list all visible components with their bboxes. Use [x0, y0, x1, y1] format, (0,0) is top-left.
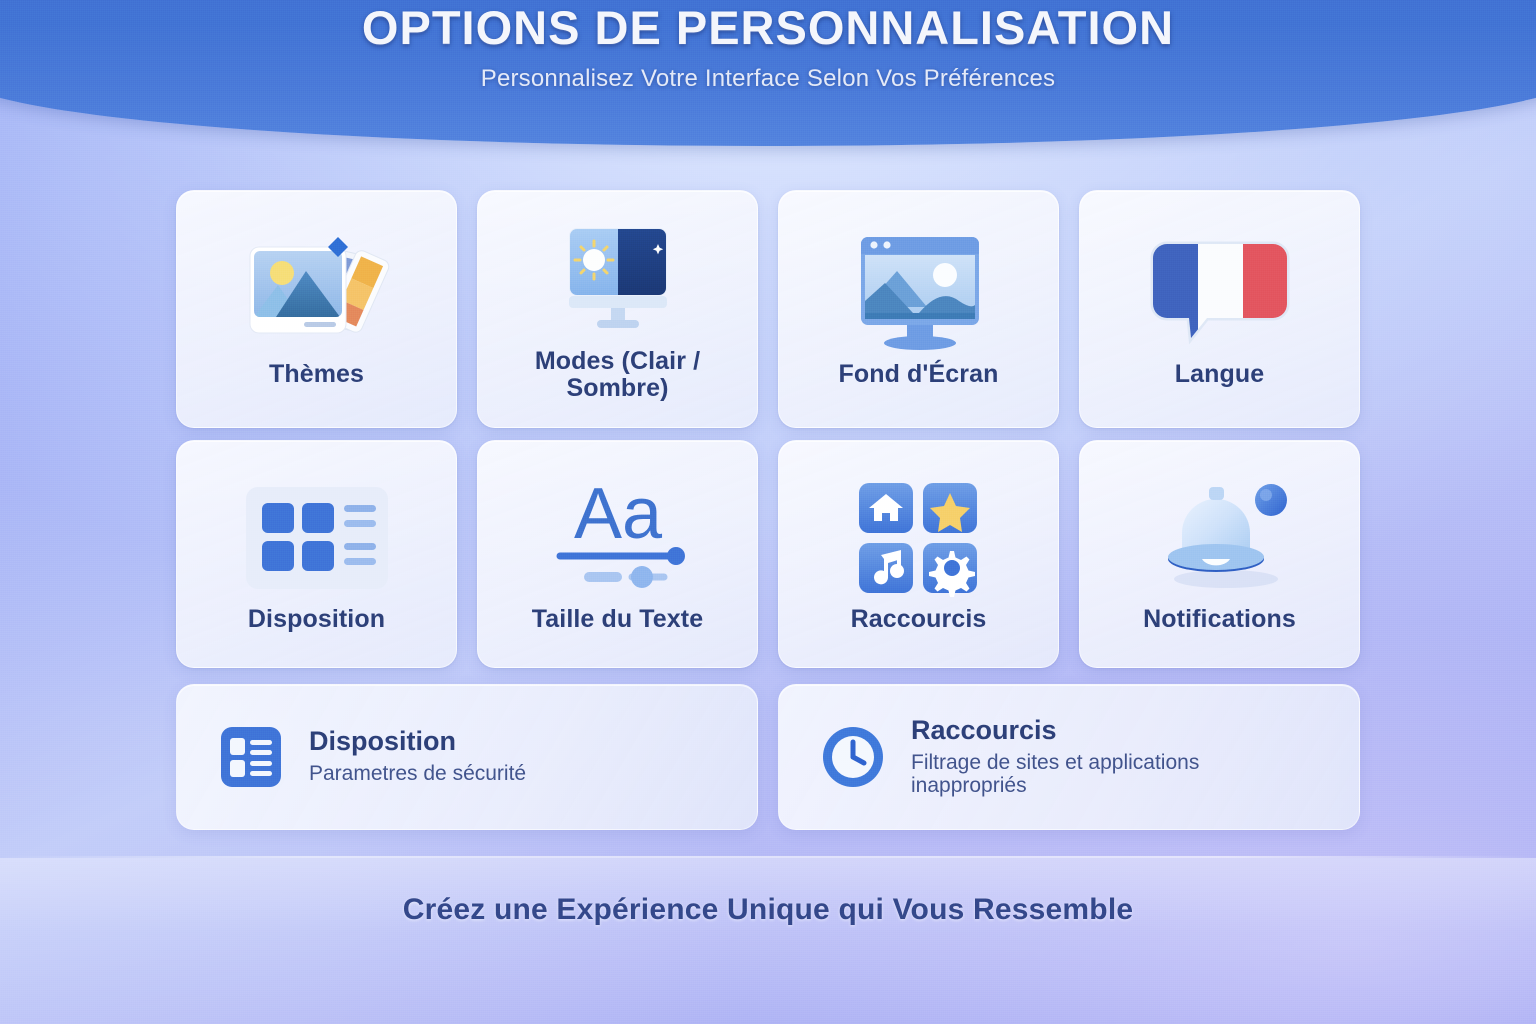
infographic-canvas: OPTIONS DE PERSONNALISATION Personnalise… — [0, 0, 1536, 1024]
option-card-wallpaper[interactable]: Fond d'Écran — [778, 190, 1059, 428]
option-label: Fond d'Écran — [831, 361, 1007, 389]
shortcut-tiles-icon — [849, 474, 989, 602]
option-card-themes[interactable]: Thèmes — [176, 190, 457, 428]
footer-tagline: Créez une Expérience Unique qui Vous Res… — [0, 893, 1536, 927]
svg-text:Aa: Aa — [573, 480, 662, 554]
option-card-text-size[interactable]: Aa Taille du Texte — [477, 440, 758, 668]
option-card-shortcuts[interactable]: Raccourcis — [778, 440, 1059, 668]
option-card-notifications[interactable]: Notifications — [1079, 440, 1360, 668]
options-row-1: Thèmes — [176, 190, 1360, 428]
wide-card-title: Raccourcis — [911, 717, 1317, 744]
footer-divider — [0, 856, 1536, 858]
option-label: Notifications — [1135, 606, 1304, 634]
options-row-2: Disposition Aa Taille du Texte — [176, 440, 1360, 668]
options-row-3: Disposition Parametres de sécurité Racco… — [176, 684, 1360, 830]
option-label: Thèmes — [261, 361, 372, 389]
wide-card-subtitle: Parametres de sécurité — [309, 762, 526, 785]
wide-card-subtitle: Filtrage de sites et applications inappr… — [911, 751, 1317, 797]
french-flag-speech-bubble-icon — [1145, 229, 1295, 357]
list-layout-icon — [219, 725, 283, 789]
option-label: Modes (Clair / Sombre) — [478, 348, 757, 403]
clock-icon — [821, 725, 885, 789]
monitor-sun-moon-icon — [543, 216, 693, 344]
page-subtitle: Personnalisez Votre Interface Selon Vos … — [0, 65, 1536, 93]
wide-card-text: Disposition Parametres de sécurité — [309, 728, 526, 785]
page-title: OPTIONS DE PERSONNALISATION — [0, 0, 1536, 55]
option-label: Disposition — [240, 606, 393, 634]
wide-card-title: Disposition — [309, 728, 526, 755]
bell-badge-icon — [1140, 474, 1300, 602]
option-label: Taille du Texte — [524, 606, 711, 634]
header-band: OPTIONS DE PERSONNALISATION Personnalise… — [0, 0, 1536, 146]
option-card-language[interactable]: Langue — [1079, 190, 1360, 428]
monitor-wallpaper-icon — [841, 229, 997, 357]
wide-card-text: Raccourcis Filtrage de sites et applicat… — [911, 717, 1317, 797]
wide-card-shortcuts-filter[interactable]: Raccourcis Filtrage de sites et applicat… — [778, 684, 1360, 830]
footer-glow — [0, 858, 1536, 1024]
option-card-modes[interactable]: Modes (Clair / Sombre) — [477, 190, 758, 428]
option-label: Raccourcis — [843, 606, 995, 634]
option-label: Langue — [1167, 361, 1273, 389]
options-grid: Thèmes — [176, 190, 1360, 830]
option-card-layout[interactable]: Disposition — [176, 440, 457, 668]
layout-grid-icon — [232, 474, 402, 602]
wide-card-layout-security[interactable]: Disposition Parametres de sécurité — [176, 684, 758, 830]
header-content: OPTIONS DE PERSONNALISATION Personnalise… — [0, 0, 1536, 93]
image-palette-icon — [242, 229, 392, 357]
text-size-slider-icon: Aa — [528, 474, 708, 602]
